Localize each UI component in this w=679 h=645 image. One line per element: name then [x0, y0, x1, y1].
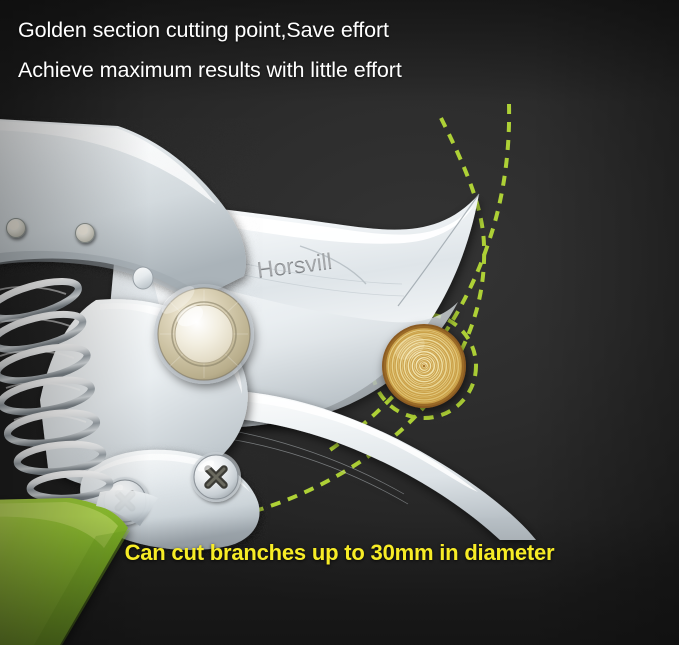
headline-block: Golden section cutting point,Save effort… [18, 10, 658, 90]
green-handle [0, 498, 130, 645]
headline-line-1: Golden section cutting point,Save effort [18, 10, 658, 50]
upper-arm [0, 118, 260, 308]
phillips-screw-right [191, 452, 241, 502]
product-image: Horsvill Horsvill [0, 0, 679, 645]
bottom-caption: Can cut branches up to 30mm in diameter [0, 540, 679, 566]
headline-line-2: Achieve maximum results with little effo… [18, 50, 658, 90]
rivet-left [7, 219, 26, 238]
branch-cross-section [382, 324, 466, 408]
rivet-right [76, 224, 95, 243]
junction-stud [133, 267, 153, 289]
